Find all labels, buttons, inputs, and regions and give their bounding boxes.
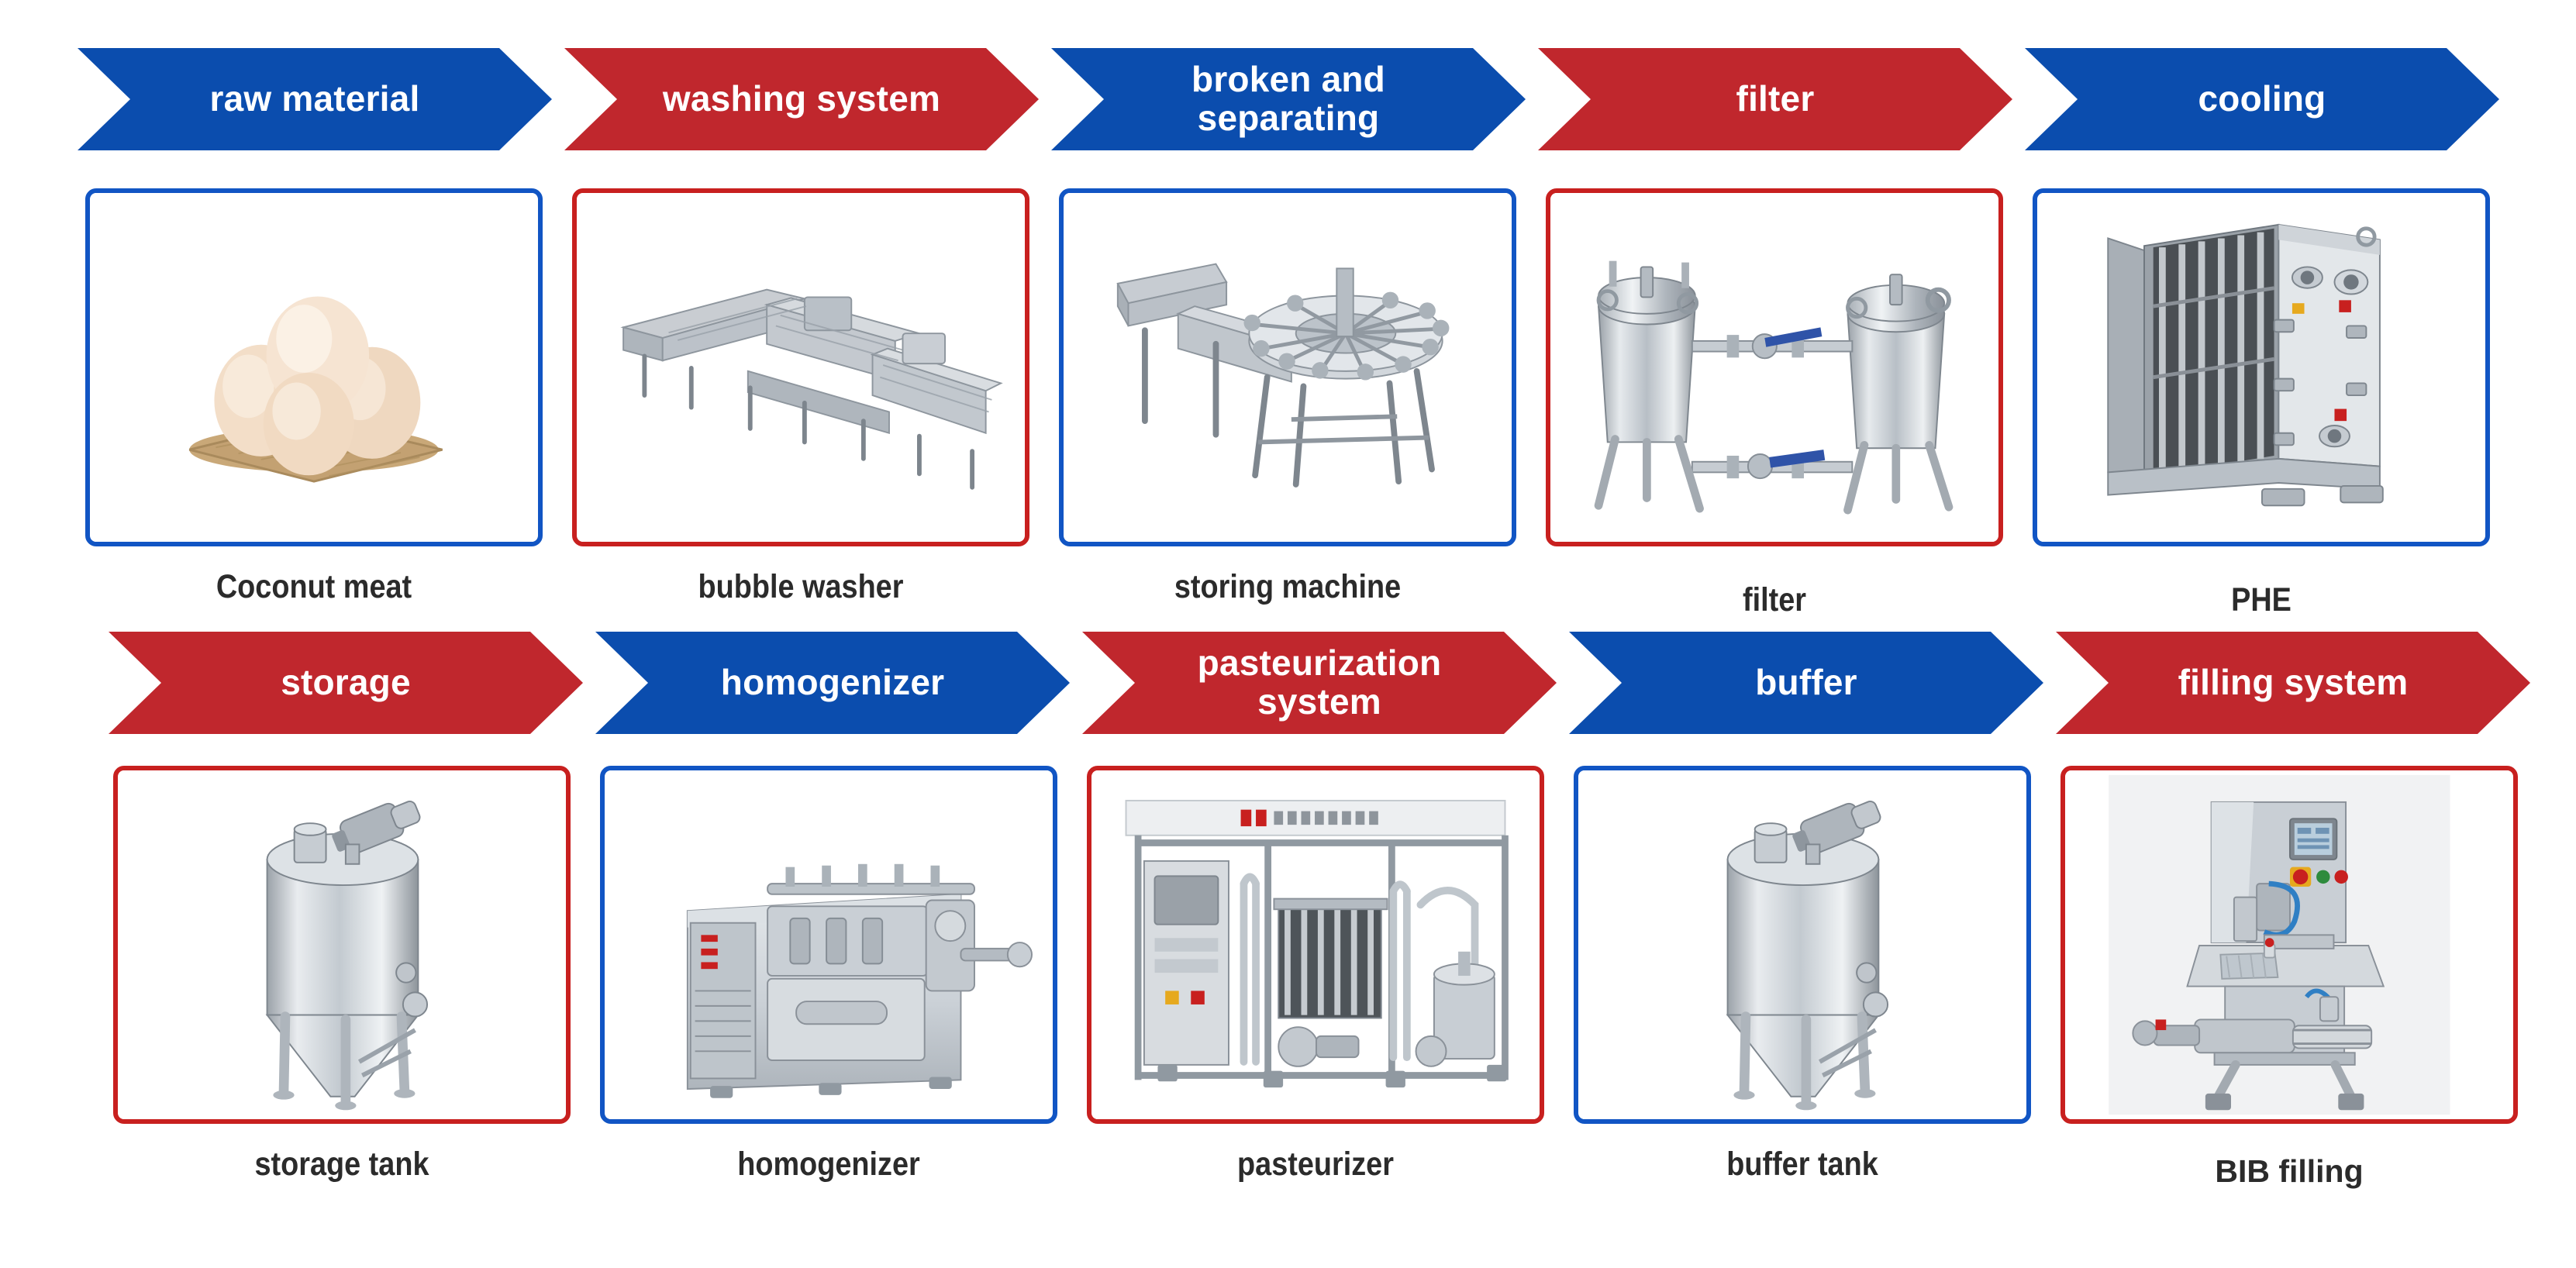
conical-storage-tank-photo — [118, 770, 566, 1119]
high-pressure-homogenizer-photo — [605, 770, 1053, 1119]
banner-label: homogenizer — [698, 663, 967, 702]
caption-storage: storage tank — [140, 1146, 543, 1184]
caption-cooling: PHE — [2060, 581, 2462, 619]
image-frame-pasteurization — [1087, 766, 1544, 1124]
bag-in-box-filling-machine-photo — [2065, 770, 2513, 1119]
uht-pasteurizer-skid-photo — [1091, 770, 1540, 1119]
banner-label: filter — [1713, 80, 1838, 119]
caption-broken-separating: storing machine — [1086, 568, 1488, 606]
plate-heat-exchanger-photo — [2037, 193, 2485, 542]
banner-filling-system[interactable]: filling system — [2056, 632, 2530, 734]
banner-label: buffer — [1732, 663, 1881, 702]
duplex-bag-filter-photo — [1550, 193, 1998, 542]
banner-pasteurization-system[interactable]: pasteurization system — [1082, 632, 1557, 734]
banner-label: storage — [257, 663, 434, 702]
image-frame-cooling — [2033, 188, 2490, 546]
banner-homogenizer[interactable]: homogenizer — [595, 632, 1070, 734]
banner-label: broken and separating — [1168, 60, 1409, 137]
banner-buffer[interactable]: buffer — [1569, 632, 2043, 734]
banner-label: raw material — [187, 80, 443, 119]
image-frame-filling-system — [2060, 766, 2518, 1124]
banner-filter[interactable]: filter — [1538, 48, 2012, 150]
banner-cooling[interactable]: cooling — [2025, 48, 2499, 150]
banner-washing-system[interactable]: washing system — [564, 48, 1039, 150]
process-flow-diagram: raw material washing system broken and s… — [0, 0, 2576, 1268]
image-frame-broken-separating — [1059, 188, 1516, 546]
caption-bib-filling: BIB filling — [2060, 1153, 2518, 1190]
image-frame-buffer — [1574, 766, 2031, 1124]
banner-storage[interactable]: storage — [109, 632, 583, 734]
banner-label: pasteurization system — [1174, 644, 1465, 721]
banner-label: washing system — [640, 80, 964, 119]
image-frame-raw-material — [85, 188, 543, 546]
banner-label: filling system — [2155, 663, 2432, 702]
image-frame-storage — [113, 766, 571, 1124]
conical-buffer-tank-photo — [1578, 770, 2026, 1119]
caption-filter: filter — [1573, 581, 1975, 619]
caption-buffer-tank: buffer tank — [1601, 1146, 2003, 1184]
bubble-washer-conveyor-photo — [577, 193, 1025, 542]
banner-raw-material[interactable]: raw material — [78, 48, 552, 150]
image-frame-homogenizer — [600, 766, 1057, 1124]
image-frame-washing-system — [572, 188, 1029, 546]
caption-homogenizer: homogenizer — [627, 1146, 1029, 1184]
caption-raw-material: Coconut meat — [112, 568, 515, 606]
caption-washing-system: bubble washer — [599, 568, 1002, 606]
egg-breaking-separating-machine-photo — [1064, 193, 1512, 542]
caption-pasteurizer: pasteurizer — [1114, 1146, 1516, 1184]
banner-label: cooling — [2175, 80, 2350, 119]
image-frame-filter — [1546, 188, 2003, 546]
eggs-on-burlap-photo — [90, 193, 538, 542]
banner-broken-and-separating[interactable]: broken and separating — [1051, 48, 1526, 150]
